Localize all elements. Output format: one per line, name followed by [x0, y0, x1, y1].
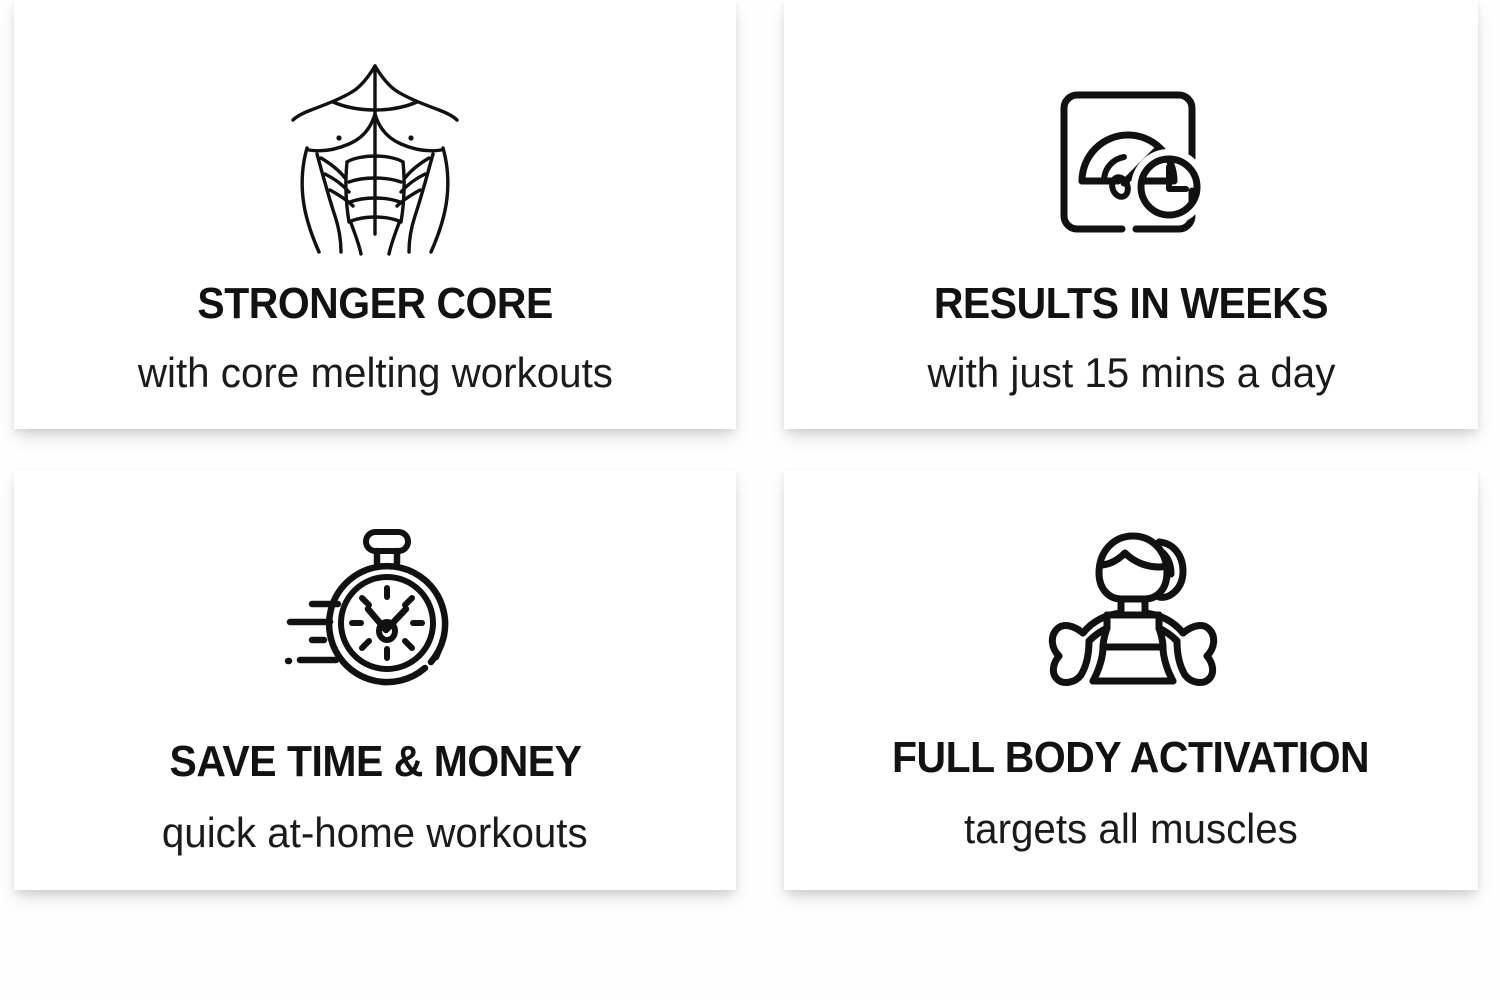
card-subtitle: quick at-home workouts: [162, 812, 588, 854]
card-subtitle: targets all muscles: [964, 808, 1298, 850]
benefit-card-stronger-core[interactable]: STRONGER CORE with core melting workouts: [14, 0, 736, 429]
weight-scale-clock-icon: [784, 0, 1478, 268]
card-subtitle: with core melting workouts: [137, 352, 612, 394]
abs-torso-icon: [14, 0, 736, 264]
woman-flexing-icon: [784, 470, 1478, 704]
card-title: FULL BODY ACTIVATION: [892, 736, 1369, 780]
card-title: RESULTS IN WEEKS: [934, 282, 1328, 326]
benefit-card-results-in-weeks[interactable]: RESULTS IN WEEKS with just 15 mins a day: [784, 0, 1478, 429]
benefit-card-full-body-activation[interactable]: FULL BODY ACTIVATION targets all muscles: [784, 470, 1478, 890]
benefits-grid: STRONGER CORE with core melting workouts: [0, 0, 1500, 1000]
card-title: STRONGER CORE: [197, 282, 552, 326]
benefit-card-save-time-money[interactable]: SAVE TIME & MONEY quick at-home workouts: [14, 470, 736, 890]
card-title: SAVE TIME & MONEY: [169, 740, 581, 784]
card-subtitle: with just 15 mins a day: [927, 352, 1335, 394]
fast-stopwatch-icon: [14, 470, 736, 708]
